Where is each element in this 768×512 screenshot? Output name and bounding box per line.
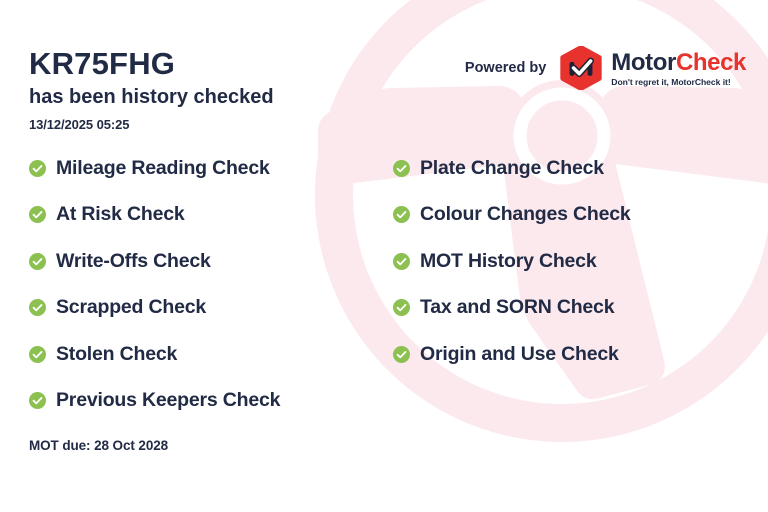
check-item-origin-and-use: Origin and Use Check	[393, 331, 753, 378]
card-header: KR75FHG has been history checked 13/12/2…	[0, 0, 768, 140]
page-subtitle: has been history checked	[29, 84, 429, 111]
check-item-tax-and-sorn: Tax and SORN Check	[393, 285, 753, 332]
check-circle-icon	[29, 253, 46, 270]
registration-block: KR75FHG has been history checked 13/12/2…	[29, 46, 429, 132]
check-circle-icon	[393, 346, 410, 363]
card-content: KR75FHG has been history checked 13/12/2…	[0, 0, 768, 512]
check-item-write-offs: Write-Offs Check	[29, 238, 389, 285]
vehicle-history-check-card: KR75FHG has been history checked 13/12/2…	[0, 0, 768, 512]
check-circle-icon	[393, 299, 410, 316]
page-title: KR75FHG	[29, 46, 429, 82]
motorcheck-logo[interactable]: MotorCheck Don't regret it, MotorCheck i…	[559, 46, 746, 90]
check-item-label: Colour Changes Check	[420, 203, 631, 226]
checks-column-right: Plate Change Check Colour Changes Check …	[393, 145, 753, 378]
wordmark-motor: Motor	[611, 49, 676, 76]
mot-due-text: MOT due: 28 Oct 2028	[29, 438, 168, 453]
powered-by-block: Powered by MotorCheck Don'	[465, 46, 746, 90]
check-item-label: Scrapped Check	[56, 296, 206, 319]
motorcheck-hexagon-m-check-icon	[559, 46, 603, 90]
check-item-label: MOT History Check	[420, 250, 596, 273]
wordmark-row: MotorCheck	[611, 50, 746, 75]
check-item-label: Stolen Check	[56, 343, 177, 366]
check-circle-icon	[29, 346, 46, 363]
check-circle-icon	[29, 299, 46, 316]
checks-column-left: Mileage Reading Check At Risk Check Writ…	[29, 145, 389, 424]
check-item-previous-keepers: Previous Keepers Check	[29, 378, 389, 425]
check-circle-icon	[29, 160, 46, 177]
check-item-label: Write-Offs Check	[56, 250, 211, 273]
check-item-label: Tax and SORN Check	[420, 296, 614, 319]
check-item-label: Plate Change Check	[420, 157, 604, 180]
check-circle-icon	[29, 392, 46, 409]
check-circle-icon	[393, 253, 410, 270]
check-item-label: Mileage Reading Check	[56, 157, 270, 180]
check-circle-icon	[393, 206, 410, 223]
check-item-mot-history: MOT History Check	[393, 238, 753, 285]
wordmark-check: Check	[676, 49, 746, 76]
check-item-at-risk: At Risk Check	[29, 192, 389, 239]
motorcheck-wordmark: MotorCheck Don't regret it, MotorCheck i…	[611, 50, 746, 87]
check-timestamp: 13/12/2025 05:25	[29, 117, 429, 132]
check-circle-icon	[393, 160, 410, 177]
check-item-plate-change: Plate Change Check	[393, 145, 753, 192]
check-item-stolen: Stolen Check	[29, 331, 389, 378]
card-footer: MOT due: 28 Oct 2028	[29, 438, 168, 453]
powered-by-label: Powered by	[465, 60, 546, 76]
check-item-mileage-reading: Mileage Reading Check	[29, 145, 389, 192]
check-item-scrapped: Scrapped Check	[29, 285, 389, 332]
check-item-label: Previous Keepers Check	[56, 389, 280, 412]
check-circle-icon	[29, 206, 46, 223]
check-item-label: Origin and Use Check	[420, 343, 619, 366]
check-item-label: At Risk Check	[56, 203, 185, 226]
check-item-colour-changes: Colour Changes Check	[393, 192, 753, 239]
brand-tagline: Don't regret it, MotorCheck it!	[611, 78, 746, 87]
